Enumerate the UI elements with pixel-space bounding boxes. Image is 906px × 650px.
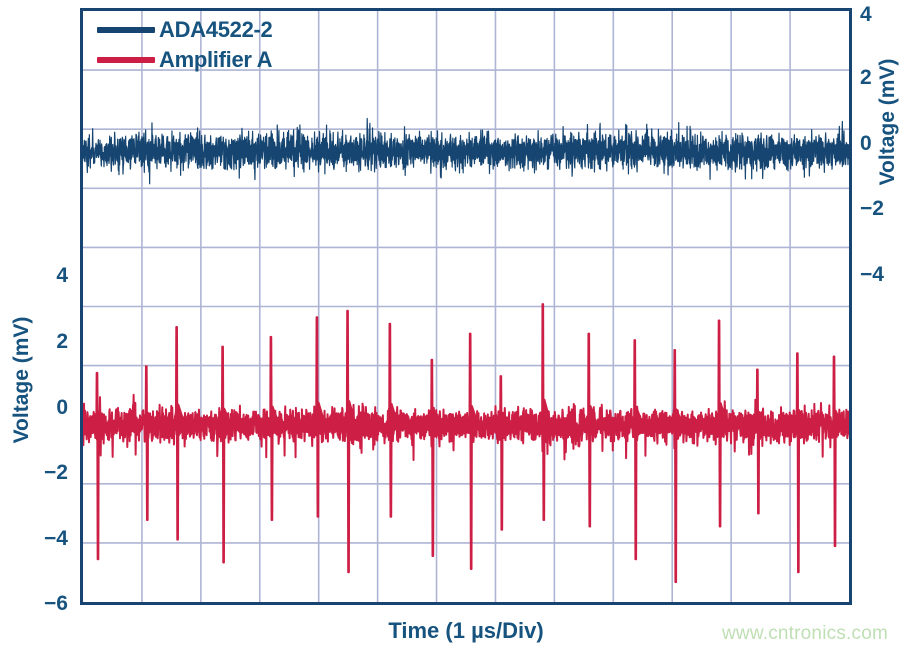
left-tick-2: 2 [56,330,68,354]
legend-item-amplifier-a: Amplifier A [97,45,272,75]
trace-amplifier-a [83,304,849,582]
legend-swatch-red [97,57,155,63]
legend: ADA4522-2 Amplifier A [97,15,272,75]
data-traces [83,11,849,602]
left-axis-title: Voltage (mV) [10,310,34,450]
left-tick-neg6: −6 [44,592,68,616]
legend-label-ada4522: ADA4522-2 [159,17,272,43]
legend-label-amplifier-a: Amplifier A [159,47,272,73]
left-tick-4: 4 [56,264,68,288]
right-tick-2: 2 [860,66,872,90]
right-tick-0: 0 [860,132,872,156]
left-tick-neg4: −4 [44,527,68,551]
right-tick-neg2: −2 [860,197,884,221]
left-tick-neg2: −2 [44,461,68,485]
plot-area: ADA4522-2 Amplifier A [80,8,852,605]
right-tick-neg4: −4 [860,263,884,287]
legend-swatch-navy [97,27,155,33]
right-tick-4: 4 [860,3,872,27]
watermark: www.cntronics.com [722,623,888,645]
trace-ada4522-2 [83,118,849,183]
chart-figure: 4 2 0 −2 −4 −6 Voltage (mV) 4 2 0 −2 −4 … [0,0,906,650]
left-tick-0: 0 [56,396,68,420]
right-axis-title: Voltage (mV) [876,52,900,192]
legend-item-ada4522: ADA4522-2 [97,15,272,45]
